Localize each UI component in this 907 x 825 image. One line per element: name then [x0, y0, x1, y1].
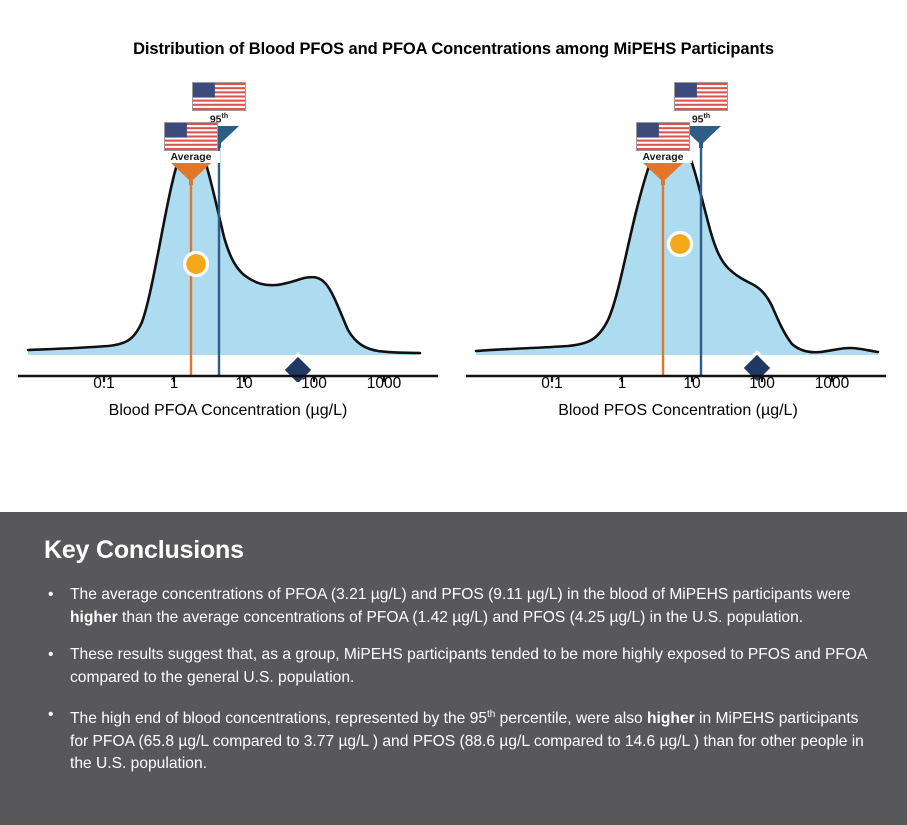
x-axis-title-pfos: Blood PFOS Concentration (µg/L) [458, 402, 898, 420]
us-flag-icon [164, 122, 218, 151]
x-tick-labels-pfos: 0.1 1 10 100 1000 [458, 375, 898, 399]
us-flag-icon [636, 122, 690, 151]
density-area-pfoa [28, 141, 420, 355]
x-tick-label: 0.1 [541, 375, 563, 393]
bullet-text: These results suggest that, as a group, … [70, 646, 867, 686]
list-item: • The average concentrations of PFOA (3.… [44, 584, 874, 629]
us-flag-icon [674, 82, 728, 111]
bullet-text: The average concentrations of PFOA (3.21… [70, 586, 850, 626]
key-conclusions-panel: Key Conclusions • The average concentrat… [0, 512, 907, 825]
x-tick-label: 1 [618, 375, 627, 393]
x-tick-label: 1 [170, 375, 179, 393]
average-flag-callout-pfoa: Average [162, 122, 220, 185]
x-tick-label: 100 [301, 375, 327, 393]
average-flag-callout-pfos: Average [634, 122, 692, 185]
x-tick-label: 1000 [367, 375, 401, 393]
chart-panel-pfoa: 0.1 1 10 100 1000 Blood PFOA Concentrati… [8, 72, 448, 442]
bullet-icon: • [48, 704, 53, 727]
average-flag-label: Average [162, 151, 220, 163]
list-item: • The high end of blood concentrations, … [44, 704, 874, 776]
mipehs-average-marker-pfoa [185, 253, 208, 276]
x-tick-label: 10 [683, 375, 700, 393]
x-tick-label: 10 [235, 375, 252, 393]
list-item: • These results suggest that, as a group… [44, 644, 874, 689]
x-tick-label: 100 [749, 375, 775, 393]
key-conclusions-list: • The average concentrations of PFOA (3.… [44, 584, 874, 791]
key-conclusions-heading: Key Conclusions [44, 536, 244, 565]
page-title: Distribution of Blood PFOS and PFOA Conc… [0, 40, 907, 59]
bullet-icon: • [48, 644, 53, 667]
x-tick-label: 0.1 [93, 375, 115, 393]
bullet-icon: • [48, 584, 53, 607]
mipehs-average-marker-pfos [669, 233, 692, 256]
bullet-text: The high end of blood concentrations, re… [70, 710, 864, 772]
x-tick-label: 1000 [815, 375, 849, 393]
charts-area: 0.1 1 10 100 1000 Blood PFOA Concentrati… [0, 72, 907, 442]
x-tick-labels-pfoa: 0.1 1 10 100 1000 [8, 375, 448, 399]
us-flag-icon [192, 82, 246, 111]
chart-panel-pfos: 0.1 1 10 100 1000 Blood PFOS Concentrati… [458, 72, 898, 442]
average-funnel-icon [643, 163, 683, 185]
average-funnel-icon [171, 163, 211, 185]
x-axis-title-pfoa: Blood PFOA Concentration (µg/L) [8, 402, 448, 420]
average-flag-label: Average [634, 151, 692, 163]
